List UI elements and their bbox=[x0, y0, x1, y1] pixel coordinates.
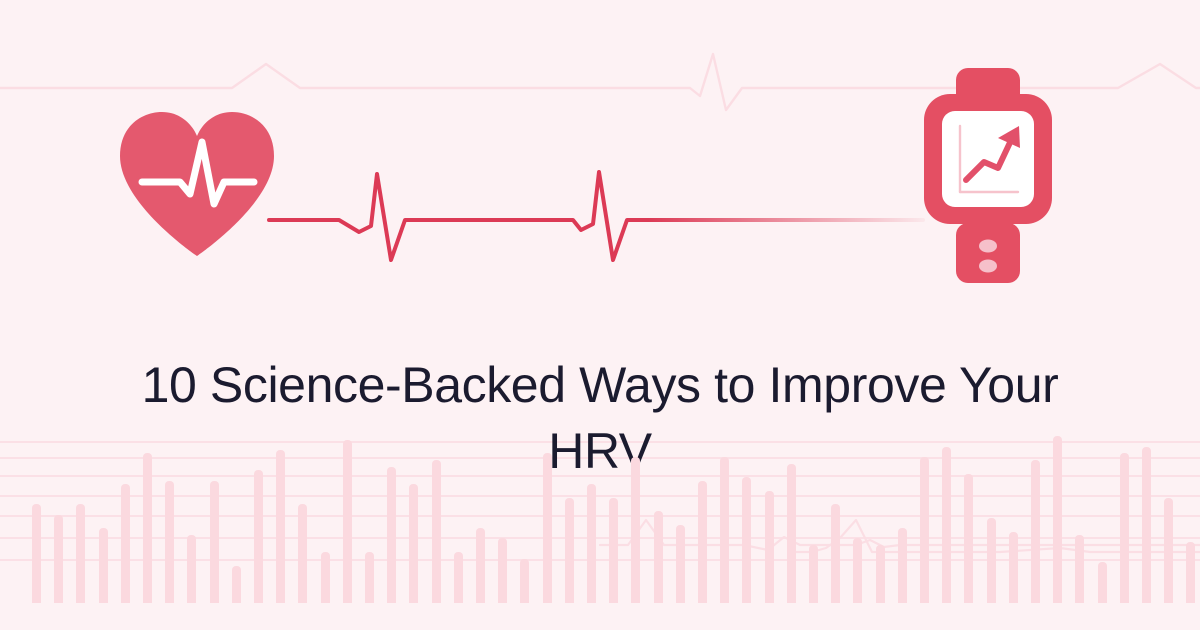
hrv-bar bbox=[831, 504, 840, 603]
hrv-bar bbox=[1009, 532, 1018, 603]
hrv-bar bbox=[920, 457, 929, 603]
hrv-bar bbox=[809, 545, 818, 603]
hrv-bar bbox=[32, 504, 41, 603]
hrv-bar bbox=[853, 538, 862, 603]
hrv-bar bbox=[742, 477, 751, 603]
hrv-bar bbox=[365, 552, 374, 603]
hrv-bar bbox=[298, 504, 307, 603]
hrv-bar bbox=[1164, 498, 1173, 603]
watch-dot-2 bbox=[979, 260, 997, 273]
hrv-bar bbox=[343, 440, 352, 603]
hrv-bar bbox=[76, 504, 85, 603]
hrv-bar bbox=[609, 498, 618, 603]
hrv-bar bbox=[765, 491, 774, 603]
hrv-bar bbox=[964, 474, 973, 603]
hero-graphics bbox=[0, 60, 1200, 300]
hrv-bar bbox=[54, 515, 63, 603]
hrv-bar-chart bbox=[0, 433, 1200, 603]
hrv-bar bbox=[276, 450, 285, 603]
hrv-bar bbox=[143, 453, 152, 603]
hrv-bar bbox=[232, 566, 241, 603]
hrv-bar bbox=[432, 460, 441, 603]
smartwatch-icon bbox=[918, 68, 1058, 283]
hrv-bar bbox=[321, 552, 330, 603]
hrv-bar bbox=[520, 559, 529, 603]
hero-card: 10 Science-Backed Ways to Improve Your H… bbox=[0, 0, 1200, 630]
hrv-bar bbox=[454, 552, 463, 603]
hrv-bar bbox=[676, 525, 685, 603]
hrv-bar bbox=[698, 481, 707, 603]
hrv-bar bbox=[1075, 535, 1084, 603]
ecg-main-path bbox=[269, 172, 923, 260]
hrv-bar bbox=[187, 535, 196, 603]
hrv-bar bbox=[565, 498, 574, 603]
hrv-bar bbox=[1186, 542, 1195, 603]
watch-dot-1 bbox=[979, 240, 997, 253]
hrv-bar bbox=[1031, 460, 1040, 603]
hrv-bar bbox=[543, 453, 552, 603]
hrv-bar bbox=[898, 528, 907, 603]
hrv-bar bbox=[587, 484, 596, 603]
hrv-bar bbox=[987, 518, 996, 603]
hrv-bar bbox=[720, 457, 729, 603]
hrv-bar bbox=[476, 528, 485, 603]
hrv-bar bbox=[631, 457, 640, 603]
hrv-bar bbox=[121, 484, 130, 603]
hrv-bar bbox=[1120, 453, 1129, 603]
hrv-bar bbox=[498, 538, 507, 603]
hrv-bar bbox=[210, 481, 219, 603]
hrv-bar bbox=[387, 467, 396, 603]
hrv-bar bbox=[1053, 436, 1062, 603]
hrv-bar bbox=[99, 528, 108, 603]
hrv-bar bbox=[165, 481, 174, 603]
hrv-bar bbox=[1098, 562, 1107, 603]
ecg-waveform-icon bbox=[255, 160, 925, 270]
hrv-bar bbox=[409, 484, 418, 603]
watch-band-bottom bbox=[956, 223, 1020, 283]
hrv-bar bbox=[787, 464, 796, 603]
hrv-bar bbox=[876, 545, 885, 603]
hrv-bar bbox=[654, 511, 663, 603]
hrv-bar bbox=[254, 470, 263, 603]
hrv-bar bbox=[942, 447, 951, 603]
hrv-bar bbox=[1142, 447, 1151, 603]
